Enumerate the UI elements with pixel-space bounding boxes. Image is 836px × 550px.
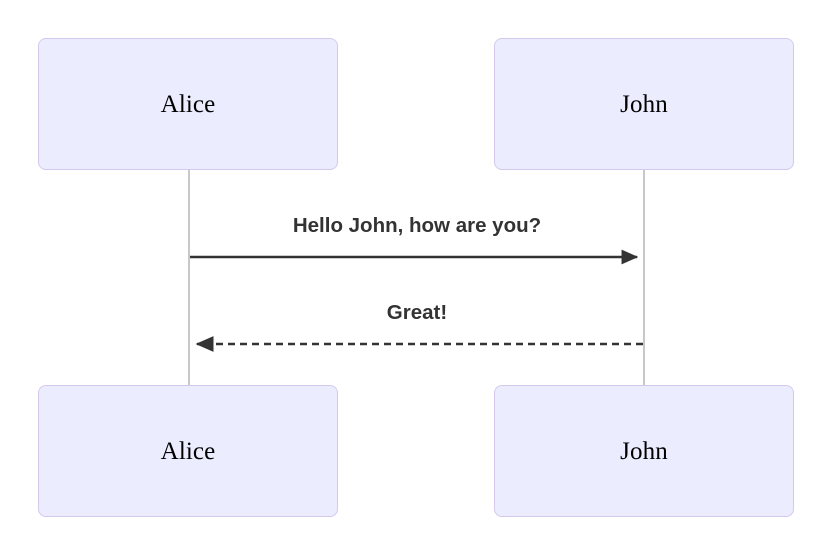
actor-box-alice-top[interactable]: Alice: [38, 38, 338, 170]
message-label-0: Hello John, how are you?: [190, 216, 644, 237]
message-label-1: Great!: [190, 303, 644, 324]
sequence-diagram-canvas: Alice John Alice John Hello John, how ar…: [0, 0, 836, 550]
actor-box-john-bottom[interactable]: John: [494, 385, 794, 517]
actor-box-john-top[interactable]: John: [494, 38, 794, 170]
actor-label-alice-top: Alice: [161, 92, 216, 117]
actor-box-alice-bottom[interactable]: Alice: [38, 385, 338, 517]
actor-label-alice-bottom: Alice: [161, 439, 216, 464]
actor-label-john-top: John: [620, 92, 668, 117]
actor-label-john-bottom: John: [620, 439, 668, 464]
